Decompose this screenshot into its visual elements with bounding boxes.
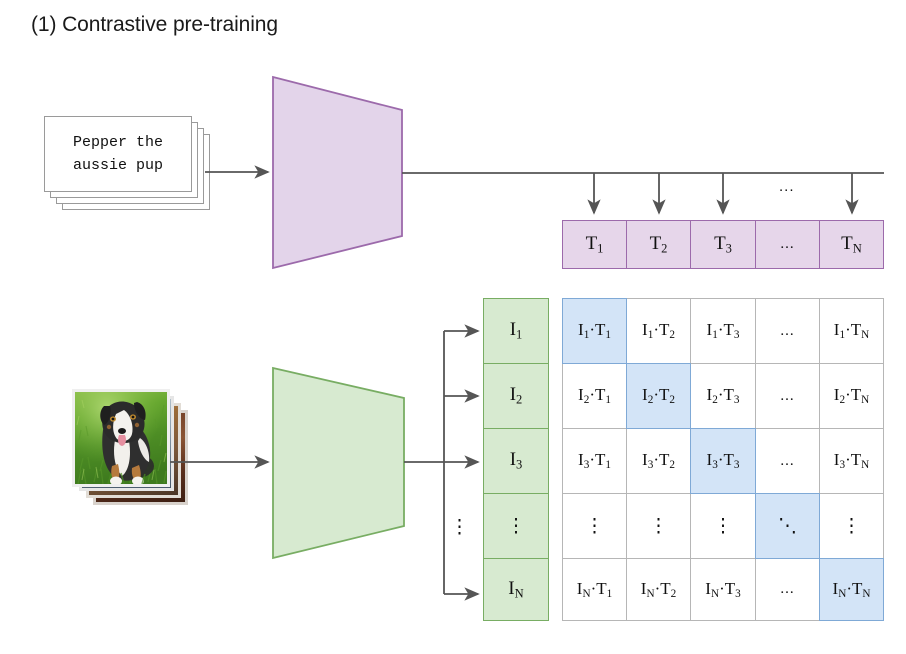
matrix-cell-label: I3·T3	[707, 450, 740, 471]
matrix-cell-label: I2·T2	[642, 385, 675, 406]
matrix-cell-r2-c2[interactable]: I2·T2	[626, 363, 691, 429]
text-encoder-shape[interactable]	[273, 77, 402, 268]
matrix-cell-label: IN·TN	[833, 579, 871, 600]
matrix-cell-label: I1·T1	[578, 320, 611, 341]
diagram-canvas: (1) Contrastive pre-training	[0, 0, 906, 654]
matrix-cell-r4-c4[interactable]: ⋱	[755, 493, 820, 559]
image-encoder-shape[interactable]	[273, 368, 404, 558]
text-bus-ellipsis: ...	[779, 178, 795, 195]
matrix-cell-ellipsis: ⋱	[778, 515, 797, 538]
matrix-cell-r3-c3[interactable]: I3·T3	[690, 428, 756, 494]
matrix-cell-r5-c5[interactable]: IN·TN	[819, 558, 884, 621]
puppy-photo-art	[75, 392, 167, 486]
matrix-cell-r1-c1[interactable]: I1·T1	[562, 298, 627, 364]
image-branch-ellipsis: ⋮	[450, 516, 469, 539]
